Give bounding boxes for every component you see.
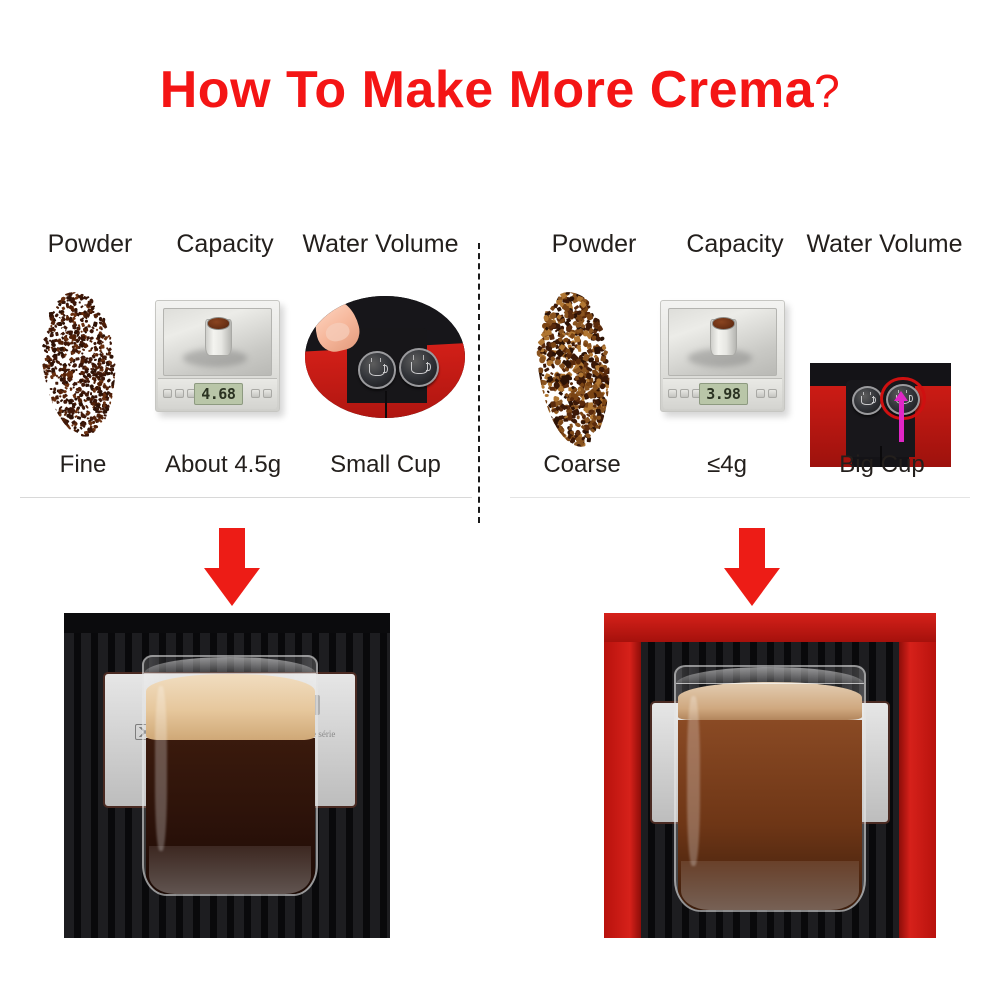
coffee-grain xyxy=(605,388,607,391)
left-footer-water-volume: Small Cup xyxy=(298,451,473,479)
right-header-capacity: Capacity xyxy=(670,230,800,259)
cup-base xyxy=(681,861,858,910)
coffee-grain xyxy=(80,359,85,363)
crema-layer xyxy=(678,682,863,721)
horizontal-divider-left xyxy=(20,497,472,498)
coffee-grain xyxy=(550,387,555,392)
left-column-headers: Powder Capacity Water Volume xyxy=(20,230,472,270)
scale-button[interactable] xyxy=(251,389,260,398)
coffee-grain xyxy=(76,386,79,390)
coffee-grain xyxy=(544,400,548,404)
coffee-grain xyxy=(80,331,83,333)
coffee-grain xyxy=(65,394,68,396)
right-scale-image: 3.98 xyxy=(660,300,785,412)
coffee-grain xyxy=(85,312,91,318)
right-scale-reading: 3.98 xyxy=(706,385,740,403)
coffee-grain xyxy=(109,402,112,405)
left-footer-powder: Fine xyxy=(28,451,138,479)
left-scale-image: 4.68 xyxy=(155,300,280,412)
panel-right: Powder Capacity Water Volume xyxy=(510,230,970,491)
machine-body-left xyxy=(604,613,641,938)
crema-layer xyxy=(146,674,315,740)
infographic-page: How To Make More Crema? Powder Capacity … xyxy=(0,0,1000,1000)
scale-button[interactable] xyxy=(680,389,689,398)
machine-body-top xyxy=(604,613,936,642)
left-down-arrow-icon xyxy=(202,528,262,608)
coffee-grain xyxy=(56,306,60,309)
scale-button[interactable] xyxy=(163,389,172,398)
magenta-pointer-arrow-icon xyxy=(899,400,904,442)
left-header-water-volume: Water Volume xyxy=(288,230,473,259)
coffee-grain xyxy=(55,332,59,337)
left-footer-capacity: About 4.5g xyxy=(158,451,288,479)
coffee-grain xyxy=(544,367,550,373)
coffee-grain xyxy=(94,373,98,377)
scale-lcd-bar: 3.98 xyxy=(663,378,781,409)
scale-lcd-display: 4.68 xyxy=(194,383,244,404)
coffee-grain xyxy=(78,301,80,304)
coffee-grain xyxy=(573,304,579,310)
coffee-grain xyxy=(112,365,114,368)
right-header-powder: Powder xyxy=(524,230,664,259)
coffee-grain xyxy=(58,328,61,330)
scale-buttons-right[interactable] xyxy=(251,384,272,404)
right-footer-water-volume: Big Cup xyxy=(802,451,962,479)
coffee-grain xyxy=(85,404,89,408)
page-title: How To Make More Crema? xyxy=(0,60,1000,120)
coffee-grain xyxy=(68,327,70,330)
espresso-cup xyxy=(142,655,318,896)
coffee-grain xyxy=(73,307,77,311)
page-title-question-mark: ? xyxy=(814,65,840,117)
coffee-grain xyxy=(58,363,62,366)
coffee-grain xyxy=(55,367,58,369)
coffee-grain xyxy=(95,386,98,390)
scale-lcd-bar: 4.68 xyxy=(158,378,276,409)
scale-buttons-right[interactable] xyxy=(756,384,777,404)
cup-rim xyxy=(144,657,316,674)
espresso-cup xyxy=(674,665,867,912)
coffee-grain xyxy=(93,332,96,334)
coffee-grain xyxy=(545,394,549,397)
coffee-grain xyxy=(68,363,71,366)
left-header-capacity: Capacity xyxy=(160,230,290,259)
coffee-grain xyxy=(561,428,566,433)
capsule-coffee-fill xyxy=(712,317,735,329)
cup-icon xyxy=(861,396,874,405)
coffee-grain xyxy=(72,290,75,293)
coffee-grain xyxy=(113,380,115,383)
scale-lcd-display: 3.98 xyxy=(699,383,749,404)
coffee-grain xyxy=(47,348,50,351)
coffee-grain xyxy=(103,383,105,385)
scale-button[interactable] xyxy=(768,389,777,398)
coffee-grain xyxy=(93,359,97,362)
drip-tray-rim xyxy=(64,613,390,633)
coffee-grain xyxy=(71,345,75,349)
scale-button[interactable] xyxy=(668,389,677,398)
page-title-text: How To Make More Crema xyxy=(160,61,814,119)
coffee-grain xyxy=(91,306,95,310)
scale-button[interactable] xyxy=(263,389,272,398)
coffee-grain xyxy=(103,408,106,411)
coffee-grain xyxy=(65,292,69,295)
coffee-grain xyxy=(101,344,105,349)
right-media-row: 3.98 xyxy=(510,270,970,445)
coffee-capsule xyxy=(710,319,737,356)
coffee-grain xyxy=(581,436,586,441)
machine-body-right xyxy=(899,613,936,938)
coffee-grain xyxy=(102,320,105,322)
coffee-grain xyxy=(48,394,51,397)
coffee-grain xyxy=(87,391,90,394)
coffee-grain xyxy=(87,412,90,415)
coffee-grain xyxy=(90,392,92,395)
coffee-grain xyxy=(93,425,97,428)
horizontal-divider-right xyxy=(510,497,970,498)
coffee-grain xyxy=(563,434,566,437)
right-footer-powder: Coarse xyxy=(522,451,642,479)
scale-buttons-left[interactable] xyxy=(668,384,701,404)
left-header-powder: Powder xyxy=(20,230,160,259)
scale-button[interactable] xyxy=(756,389,765,398)
vertical-divider xyxy=(478,243,480,523)
coffee-grain xyxy=(51,334,54,337)
coffee-grain xyxy=(597,416,601,421)
coffee-grain xyxy=(57,352,60,356)
cup-icon xyxy=(411,362,428,374)
coffee-grain xyxy=(577,379,582,384)
cup-base xyxy=(149,846,311,893)
cup-rim xyxy=(676,667,865,684)
coffee-grain xyxy=(103,324,108,329)
coffee-grain xyxy=(67,346,70,349)
right-result-image xyxy=(604,613,936,938)
coffee-grain xyxy=(76,356,80,360)
coffee-grain xyxy=(577,415,580,419)
coffee-grain xyxy=(538,355,545,363)
coffee-grain xyxy=(49,388,52,390)
left-scale-reading: 4.68 xyxy=(201,385,235,403)
coffee-grain xyxy=(576,444,581,449)
right-column-footers: Coarse ≤4g Big Cup xyxy=(510,451,970,491)
scale-buttons-left[interactable] xyxy=(163,384,196,404)
coffee-grain xyxy=(95,349,98,352)
coffee-grain xyxy=(581,420,585,423)
coffee-grain xyxy=(97,362,100,365)
right-powder-image xyxy=(533,290,616,450)
cup-icon xyxy=(369,364,385,375)
coffee-grain xyxy=(75,369,77,372)
coffee-grain xyxy=(78,311,82,314)
coffee-grain xyxy=(83,374,86,377)
coffee-grain xyxy=(105,351,108,354)
coffee-grain xyxy=(45,365,48,368)
fingernail xyxy=(323,320,351,344)
coffee-grain xyxy=(99,421,102,423)
cup-highlight xyxy=(155,686,167,852)
right-footer-capacity: ≤4g xyxy=(672,451,782,479)
coffee-grain xyxy=(566,290,570,295)
coffee-grain xyxy=(76,378,78,380)
capsule-coffee-fill xyxy=(207,317,230,329)
coffee-grain xyxy=(52,390,56,394)
coffee-grain xyxy=(62,306,66,310)
cup-highlight xyxy=(687,696,700,866)
coffee-grain xyxy=(558,391,563,396)
coffee-grain xyxy=(83,342,89,348)
panel-left: Powder Capacity Water Volume xyxy=(20,230,472,491)
coffee-grain xyxy=(594,347,600,354)
small-cup-button[interactable] xyxy=(358,351,396,389)
coffee-grain xyxy=(98,398,101,400)
coffee-grain xyxy=(595,322,599,325)
left-result-image: de série xyxy=(64,613,390,938)
right-down-arrow-icon xyxy=(722,528,782,608)
right-column-headers: Powder Capacity Water Volume xyxy=(510,230,970,270)
left-column-footers: Fine About 4.5g Small Cup xyxy=(20,451,472,491)
scale-button[interactable] xyxy=(175,389,184,398)
coffee-grain xyxy=(46,384,49,387)
coffee-grain xyxy=(62,301,66,305)
coffee-grain xyxy=(109,343,112,346)
left-water-volume-image xyxy=(305,296,465,418)
machine-seam xyxy=(385,391,387,418)
coffee-grain xyxy=(63,378,67,382)
coffee-grain xyxy=(75,345,79,349)
coffee-grain xyxy=(64,386,67,389)
right-header-water-volume: Water Volume xyxy=(792,230,977,259)
left-media-row: 4.68 xyxy=(20,270,472,445)
left-powder-image xyxy=(37,290,121,440)
coffee-capsule xyxy=(205,319,232,356)
